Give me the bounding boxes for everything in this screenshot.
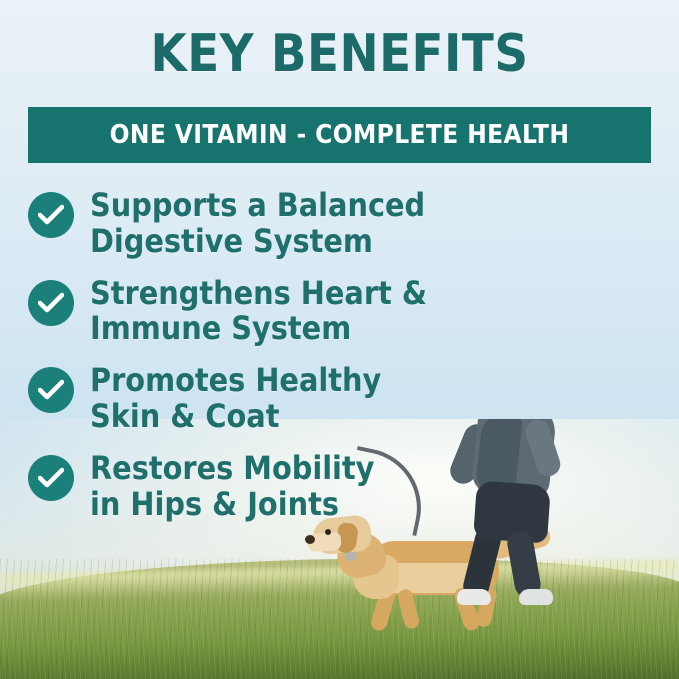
list-item: Strengthens Heart & Immune System [28, 274, 651, 348]
key-benefits-poster: KEY BENEFITS ONE VITAMIN - COMPLETE HEAL… [0, 0, 679, 679]
poster-content: KEY BENEFITS ONE VITAMIN - COMPLETE HEAL… [0, 0, 679, 679]
list-item: Supports a Balanced Digestive System [28, 186, 651, 260]
benefit-label: Promotes Healthy Skin & Coat [90, 361, 381, 435]
check-icon [28, 280, 74, 326]
list-item: Promotes Healthy Skin & Coat [28, 361, 651, 435]
check-icon [28, 192, 74, 238]
benefit-label: Supports a Balanced Digestive System [90, 186, 425, 260]
check-icon [28, 367, 74, 413]
list-item: Restores Mobility in Hips & Joints [28, 449, 651, 523]
benefits-list: Supports a Balanced Digestive System Str… [28, 186, 651, 537]
subtitle-banner: ONE VITAMIN - COMPLETE HEALTH [28, 107, 651, 163]
page-title: KEY BENEFITS [0, 28, 679, 80]
check-icon [28, 455, 74, 501]
benefit-label: Strengthens Heart & Immune System [90, 274, 427, 348]
subtitle-text: ONE VITAMIN - COMPLETE HEALTH [110, 120, 570, 150]
benefit-label: Restores Mobility in Hips & Joints [90, 449, 374, 523]
